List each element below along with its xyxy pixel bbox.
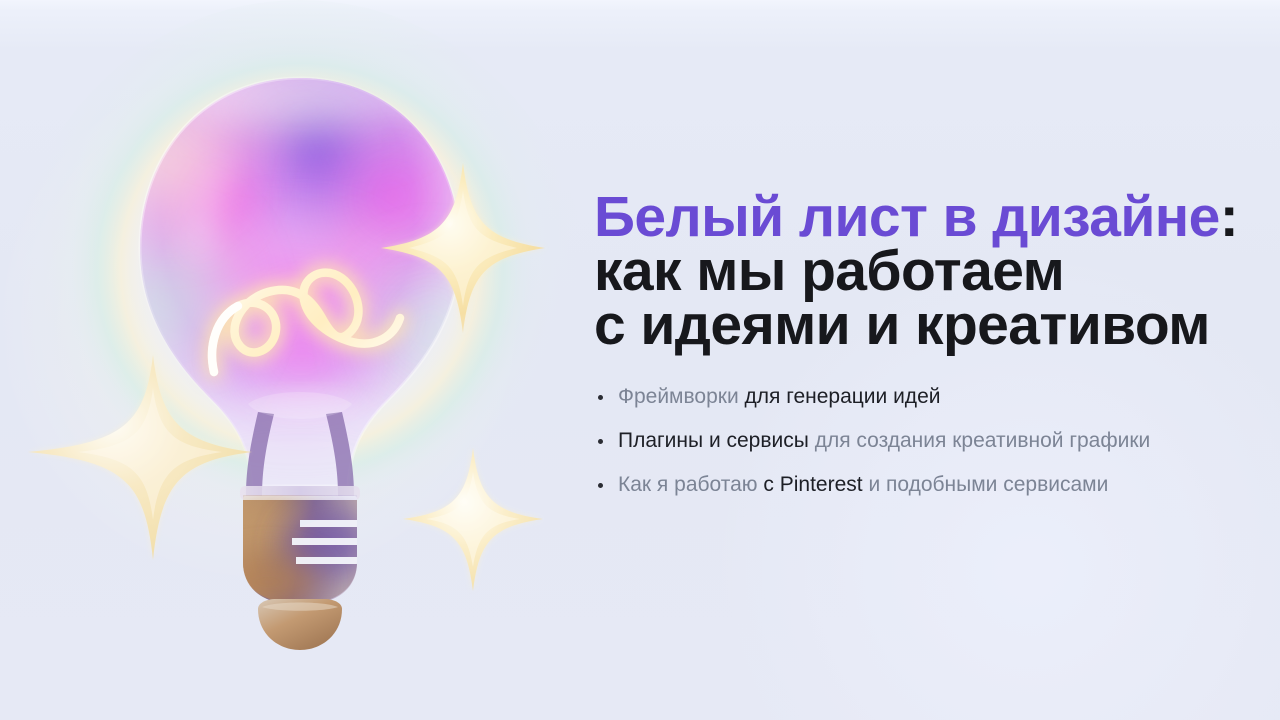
slide-root: Белый лист в дизайне: как мы работаем с … (0, 0, 1280, 720)
bullet-dot-icon (598, 483, 603, 488)
bullet-text: Фреймворки для генерации идей (618, 384, 940, 410)
list-item: Как я работаю с Pinterest и подобными се… (594, 472, 1254, 498)
bullet-3-part-1: Как я работаю (618, 473, 763, 496)
lightbulb-illustration (0, 0, 600, 720)
bullet-3-part-2: с Pinterest (763, 473, 862, 496)
bullet-1-part-1: Фреймворки (618, 385, 745, 408)
bullet-3-part-3: и подобными сервисами (863, 473, 1109, 496)
headline-line-1: Белый лист в дизайне: (594, 192, 1254, 242)
bullet-2-part-1: Плагины и сервисы (618, 429, 815, 452)
list-item: Фреймворки для генерации идей (594, 384, 1254, 410)
text-content: Белый лист в дизайне: как мы работаем с … (594, 192, 1254, 498)
bullet-dot-icon (598, 395, 603, 400)
bulb-collar (240, 486, 360, 501)
bullet-list: Фреймворки для генерации идей Плагины и … (594, 384, 1254, 498)
bullet-dot-icon (598, 439, 603, 444)
list-item: Плагины и сервисы для создания креативно… (594, 428, 1254, 454)
page-title: Белый лист в дизайне: как мы работаем с … (594, 192, 1254, 350)
headline-line-3: с идеями и креативом (594, 300, 1254, 350)
bullet-2-part-2: для создания креативной графики (815, 429, 1151, 452)
bullet-text: Плагины и сервисы для создания креативно… (618, 428, 1150, 454)
headline-line-2: как мы работаем (594, 246, 1254, 296)
bullet-1-part-2: для генерации идей (745, 385, 941, 408)
bullet-text: Как я работаю с Pinterest и подобными се… (618, 472, 1108, 498)
headline-colon: : (1220, 185, 1238, 249)
